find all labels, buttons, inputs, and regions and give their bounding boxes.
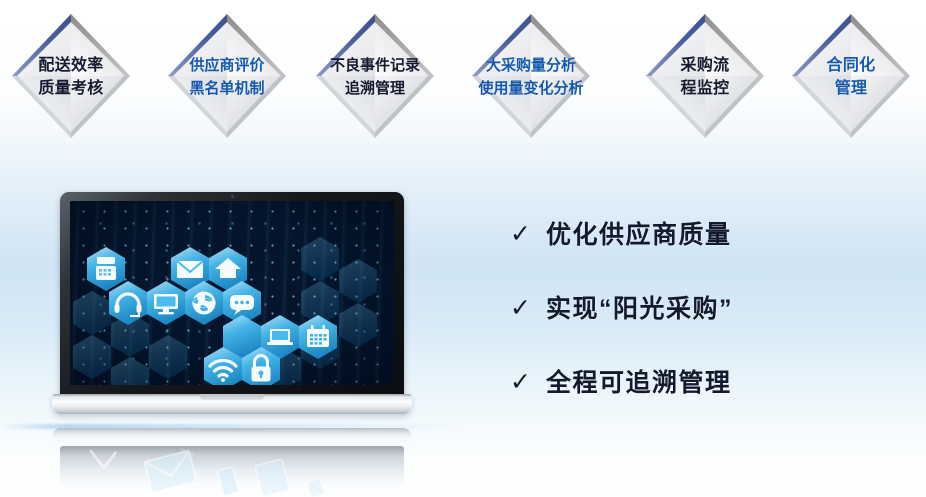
webcam-icon bbox=[231, 195, 234, 198]
diamond-contract-management[interactable]: 合同化 管理 bbox=[772, 4, 926, 148]
reflection-screen bbox=[60, 446, 404, 497]
reflection-icon-ghosts bbox=[60, 446, 404, 497]
laptop-lid bbox=[60, 192, 404, 398]
diamond-label-line1: 供应商评价 bbox=[148, 54, 306, 77]
check-icon: ✓ bbox=[506, 369, 546, 394]
slide-canvas: 配送效率 质量考核 供应商评价 黑名单机制 bbox=[0, 0, 926, 497]
diamond-label: 不良事件记录 追溯管理 bbox=[296, 54, 454, 100]
diamond-purchase-volume-analysis[interactable]: 大采购量分析 使用量变化分析 bbox=[452, 4, 610, 148]
diamond-label-line2: 追溯管理 bbox=[296, 77, 454, 100]
diamond-label-line2: 黑名单机制 bbox=[148, 77, 306, 100]
check-icon: ✓ bbox=[506, 295, 546, 320]
diamond-label-line1: 采购流 bbox=[626, 54, 784, 77]
diamond-delivery-efficiency[interactable]: 配送效率 质量考核 bbox=[0, 4, 150, 148]
diamond-supplier-evaluation[interactable]: 供应商评价 黑名单机制 bbox=[148, 4, 306, 148]
diamond-label-line1: 不良事件记录 bbox=[296, 54, 454, 77]
check-icon: ✓ bbox=[506, 221, 546, 246]
diamond-label: 供应商评价 黑名单机制 bbox=[148, 54, 306, 100]
diamond-label-line1: 合同化 bbox=[772, 54, 926, 77]
diamond-label-line2: 程监控 bbox=[626, 77, 784, 100]
reflection-base bbox=[52, 428, 412, 443]
benefit-label: 实现“阳光采购” bbox=[546, 289, 733, 325]
diamond-label: 配送效率 质量考核 bbox=[0, 54, 150, 100]
diamond-label-line1: 大采购量分析 bbox=[452, 54, 610, 77]
laptop-base bbox=[52, 394, 412, 414]
hex-icon-grid bbox=[70, 201, 394, 385]
diamond-label: 大采购量分析 使用量变化分析 bbox=[452, 54, 610, 100]
list-item[interactable]: ✓ 实现“阳光采购” bbox=[506, 270, 906, 344]
diamond-row: 配送效率 质量考核 供应商评价 黑名单机制 bbox=[0, 0, 926, 150]
laptop-trackpad-notch bbox=[199, 394, 265, 400]
list-item[interactable]: ✓ 全程可追溯管理 bbox=[506, 344, 906, 418]
laptop-reflection bbox=[52, 428, 412, 497]
reflection-notch bbox=[199, 428, 265, 433]
diamond-label: 采购流 程监控 bbox=[626, 54, 784, 100]
benefits-list: ✓ 优化供应商质量 ✓ 实现“阳光采购” ✓ 全程可追溯管理 bbox=[506, 196, 906, 418]
diamond-label-line2: 使用量变化分析 bbox=[452, 77, 610, 100]
list-item[interactable]: ✓ 优化供应商质量 bbox=[506, 196, 906, 270]
diamond-label-line2: 管理 bbox=[772, 77, 926, 100]
laptop-screen bbox=[70, 201, 394, 385]
benefit-label: 优化供应商质量 bbox=[546, 215, 732, 251]
diamond-procurement-process-monitor[interactable]: 采购流 程监控 bbox=[626, 4, 784, 148]
benefit-label: 全程可追溯管理 bbox=[546, 363, 732, 399]
diamond-label: 合同化 管理 bbox=[772, 54, 926, 100]
diamond-label-line2: 质量考核 bbox=[0, 77, 150, 100]
laptop-illustration bbox=[52, 192, 412, 424]
diamond-label-line1: 配送效率 bbox=[0, 54, 150, 77]
diamond-adverse-event-record[interactable]: 不良事件记录 追溯管理 bbox=[296, 4, 454, 148]
